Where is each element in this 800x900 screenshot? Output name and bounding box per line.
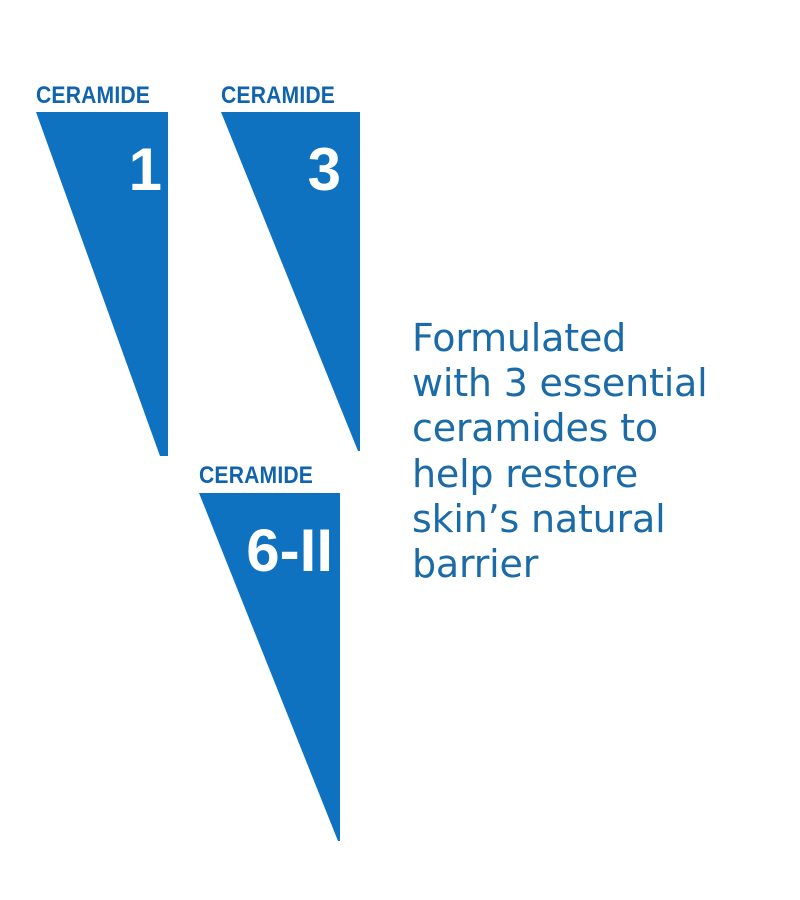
ceramide-number-3: 3 <box>221 140 341 200</box>
ceramide-label-6-ii: CERAMIDE <box>199 464 313 488</box>
copy-line: barrier <box>412 542 742 587</box>
copy-line: help restore <box>412 452 742 497</box>
infographic-canvas: CERAMIDE 1 CERAMIDE 3 CERAMIDE 6-II Form… <box>0 0 800 900</box>
copy-line: skin’s natural <box>412 497 742 542</box>
copy-line: with 3 essential <box>412 361 742 406</box>
ceramide-number-6-ii: 6-II <box>199 521 333 581</box>
ceramide-number-1: 1 <box>36 140 162 200</box>
copy-line: ceramides to <box>412 406 742 451</box>
ceramide-label-1: CERAMIDE <box>36 84 150 108</box>
copy-line: Formulated <box>412 316 742 361</box>
ceramide-label-3: CERAMIDE <box>221 84 335 108</box>
marketing-copy: Formulated with 3 essential ceramides to… <box>412 316 742 587</box>
